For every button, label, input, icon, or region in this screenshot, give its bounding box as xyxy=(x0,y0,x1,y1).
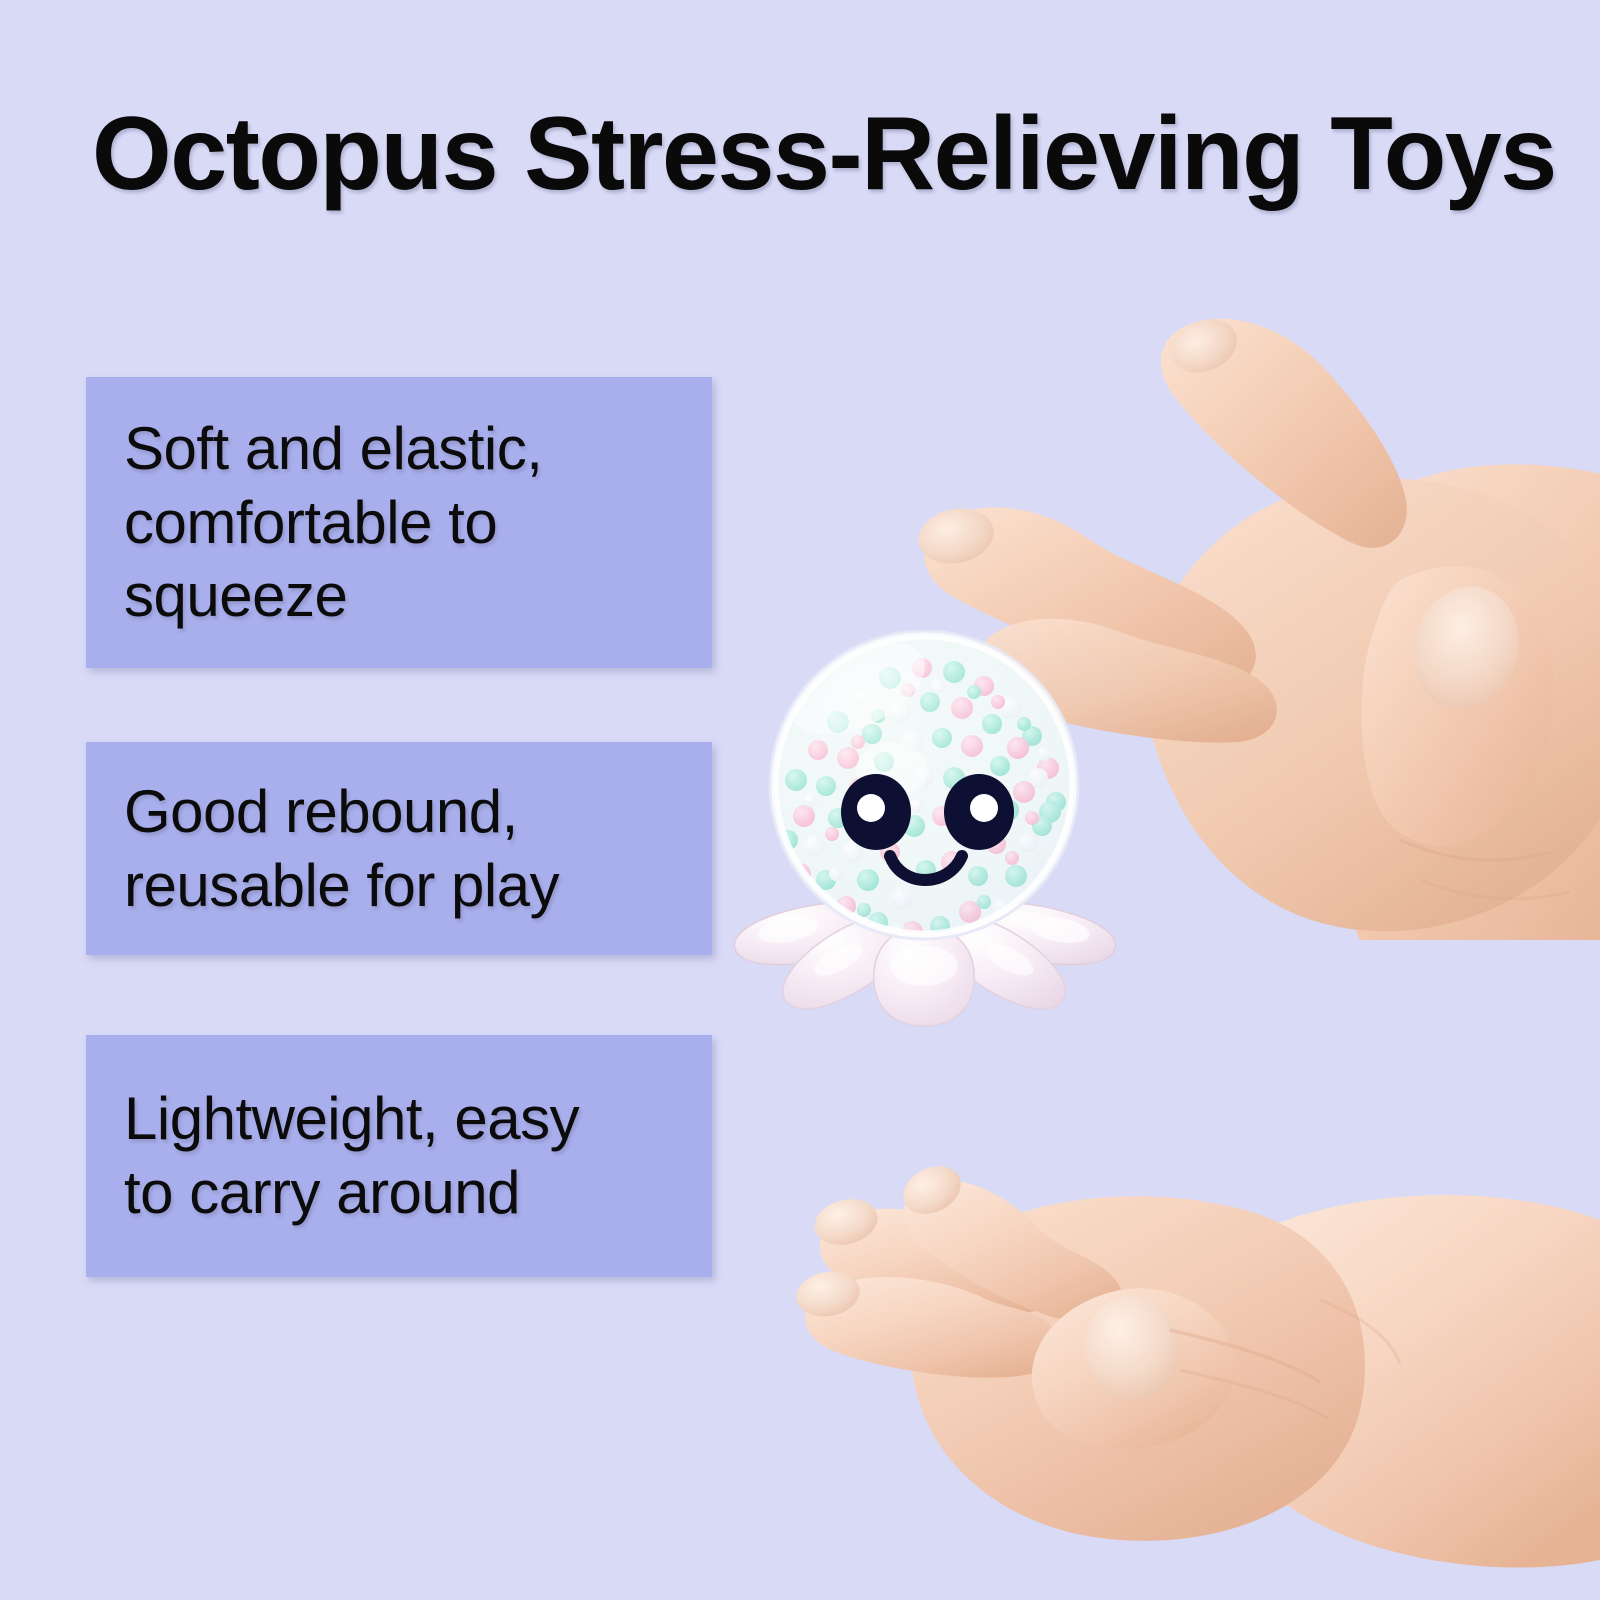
feature-box-lightweight: Lightweight, easy to carry around xyxy=(86,1035,712,1277)
feature-text-soft-elastic: Soft and elastic, comfortable to squeeze xyxy=(124,412,542,633)
feature-box-soft-elastic: Soft and elastic, comfortable to squeeze xyxy=(86,377,712,668)
feature-text-good-rebound: Good rebound, reusable for play xyxy=(124,775,559,923)
page-title: Octopus Stress-Relieving Toys xyxy=(92,104,1481,204)
feature-box-good-rebound: Good rebound, reusable for play xyxy=(86,742,712,955)
feature-text-lightweight: Lightweight, easy to carry around xyxy=(124,1082,579,1230)
octopus-icon xyxy=(726,630,1196,1030)
product-feature-poster: Octopus Stress-Relieving Toys Soft and e… xyxy=(0,0,1600,1600)
hand-lower-icon xyxy=(700,1000,1600,1600)
